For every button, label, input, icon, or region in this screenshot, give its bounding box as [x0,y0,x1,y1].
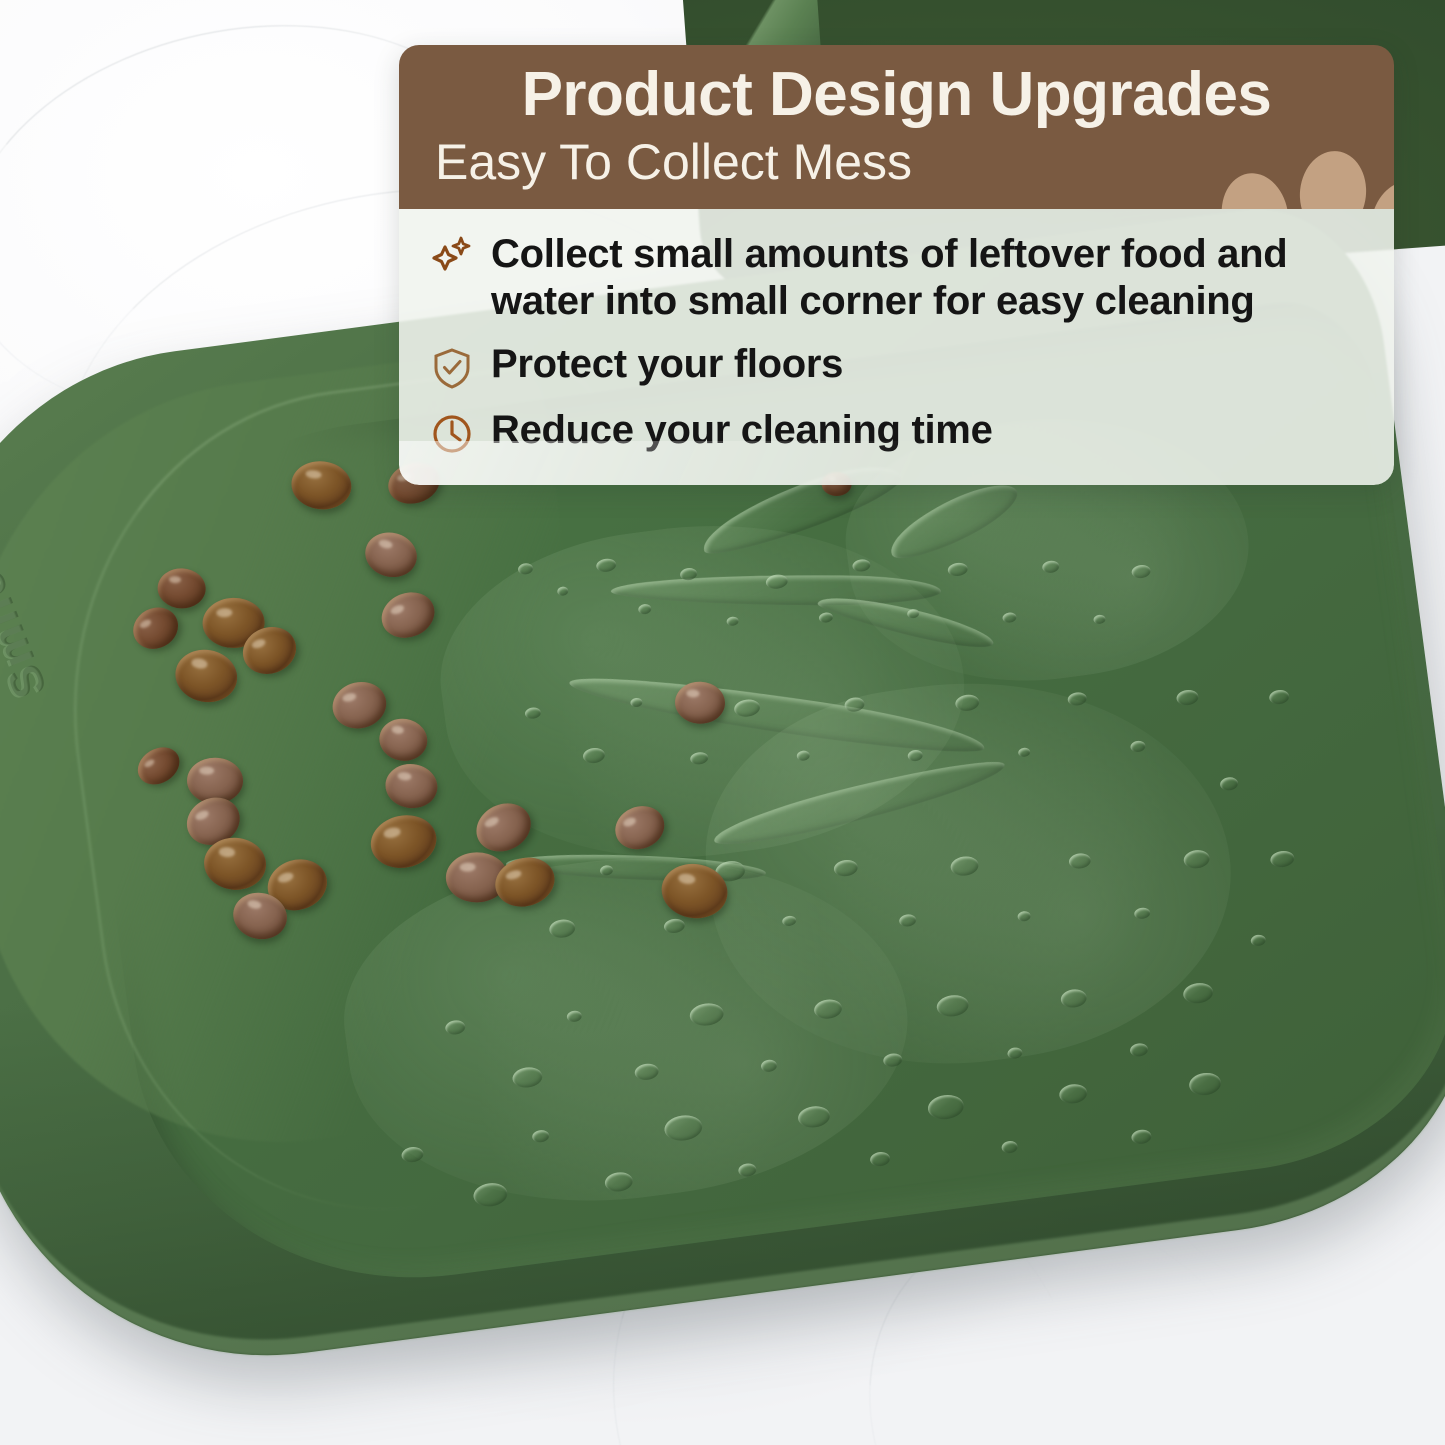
panel-header: Product Design Upgrades Easy To Collect … [399,45,1394,209]
feature-item: Collect small amounts of leftover food a… [429,231,1368,325]
panel-title: Product Design Upgrades [429,63,1364,126]
feature-label: Reduce your cleaning time [491,407,993,454]
sparkle-icon [429,233,475,279]
info-panel: Product Design Upgrades Easy To Collect … [399,45,1394,485]
panel-subtitle: Easy To Collect Mess [429,136,1364,189]
feature-item: Reduce your cleaning time [429,407,1368,457]
feature-item: Protect your floors [429,341,1368,391]
product-infographic-scene: SmilePet [0,0,1445,1445]
panel-body: Collect small amounts of leftover food a… [399,209,1394,485]
feature-label: Protect your floors [491,341,843,388]
clock-icon [429,411,475,457]
feature-label: Collect small amounts of leftover food a… [491,231,1368,325]
shield-check-icon [429,345,475,391]
